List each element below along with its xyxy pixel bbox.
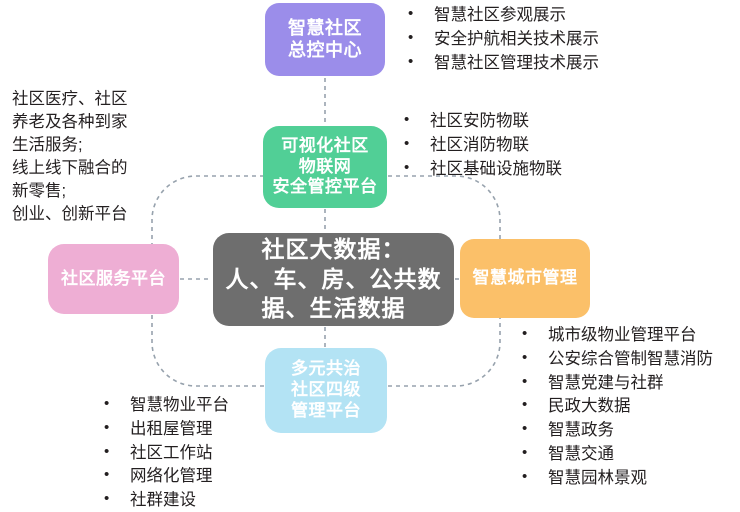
list-item: 网络化管理 [100, 465, 229, 489]
list-item: 智慧社区参观展示 [404, 4, 599, 28]
bullet-list-bottom-left: 智慧物业平台 出租屋管理 社区工作站 网络化管理 社群建设 [100, 394, 229, 512]
list-item: 智慧政务 [518, 419, 713, 443]
left-description-text: 社区医疗、社区 养老及各种到家 生活服务; 线上线下融合的 新零售; 创业、创新… [12, 88, 128, 227]
list-item: 社区工作站 [100, 442, 229, 466]
list-item: 出租屋管理 [100, 418, 229, 442]
list-item: 社区安防物联 [400, 110, 562, 134]
list-item: 社区基础设施物联 [400, 158, 562, 182]
list-item: 智慧党建与社群 [518, 372, 713, 396]
list-item: 公安综合管制智慧消防 [518, 348, 713, 372]
list-item: 社区消防物联 [400, 134, 562, 158]
list-item: 城市级物业管理平台 [518, 324, 713, 348]
bullet-list-top: 智慧社区参观展示 安全护航相关技术展示 智慧社区管理技术展示 [404, 4, 599, 75]
bullet-list-bottom-right: 城市级物业管理平台 公安综合管制智慧消防 智慧党建与社群 民政大数据 智慧政务 … [518, 324, 713, 490]
node-community-service-platform[interactable]: 社区服务平台 [48, 244, 179, 314]
list-item: 智慧交通 [518, 443, 713, 467]
node-four-level-management-platform[interactable]: 多元共治 社区四级 管理平台 [265, 348, 387, 433]
node-smart-community-control-center[interactable]: 智慧社区 总控中心 [265, 3, 385, 76]
list-item: 安全护航相关技术展示 [404, 28, 599, 52]
node-smart-city-management[interactable]: 智慧城市管理 [460, 239, 590, 318]
list-item: 智慧物业平台 [100, 394, 229, 418]
node-visual-community-iot-platform[interactable]: 可视化社区 物联网 安全管控平台 [263, 126, 387, 208]
diagram-canvas: 智慧社区 总控中心 可视化社区 物联网 安全管控平台 社区服务平台 智慧城市管理… [0, 0, 740, 512]
list-item: 社群建设 [100, 489, 229, 512]
list-item: 民政大数据 [518, 395, 713, 419]
list-item: 智慧园林景观 [518, 467, 713, 491]
bullet-list-iot: 社区安防物联 社区消防物联 社区基础设施物联 [400, 110, 562, 181]
list-item: 智慧社区管理技术展示 [404, 52, 599, 76]
node-community-big-data[interactable]: 社区大数据： 人、车、房、公共数 据、生活数据 [213, 233, 454, 326]
